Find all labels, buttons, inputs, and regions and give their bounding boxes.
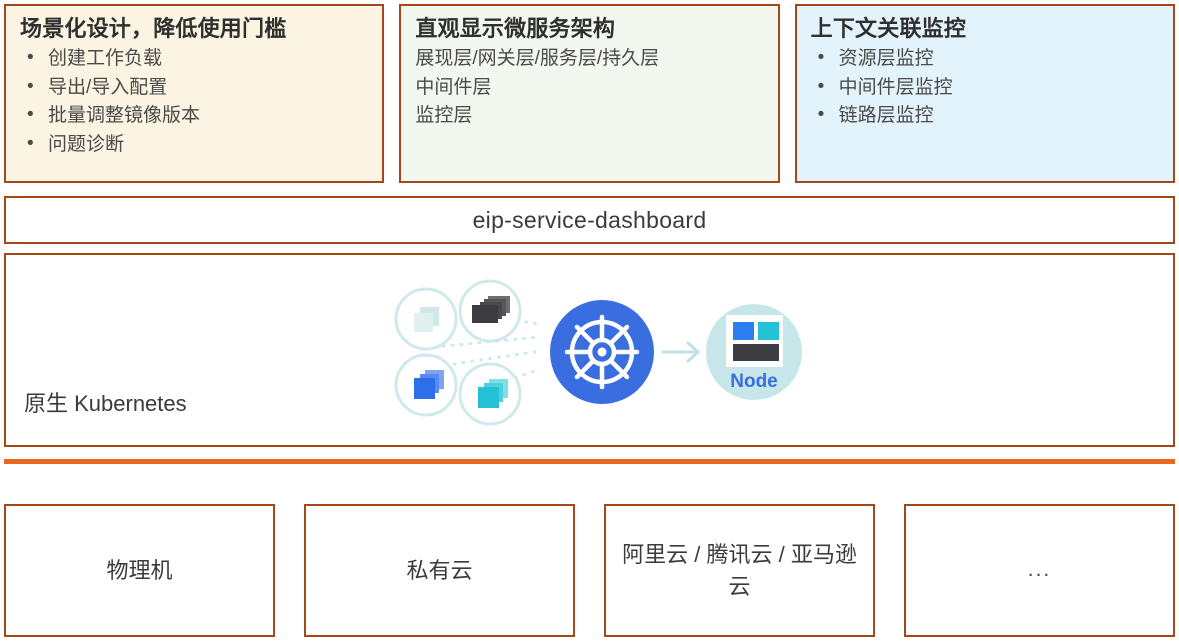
list-item: 展现层/网关层/服务层/持久层 [415, 45, 763, 74]
infra-box-more: ... [904, 504, 1175, 637]
feature-card-scenario-design: 场景化设计，降低使用门槛 创建工作负载 导出/导入配置 批量调整镜像版本 问题诊… [4, 4, 384, 183]
node-icon: Node [706, 304, 802, 400]
feature-card-microservice-architecture: 直观显示微服务架构 展现层/网关层/服务层/持久层 中间件层 监控层 [399, 4, 779, 183]
node-label: Node [730, 371, 778, 392]
list-item: 中间件层监控 [811, 74, 1159, 103]
kubernetes-diagram-svg: Node [372, 269, 822, 435]
list-item: 资源层监控 [811, 45, 1159, 74]
list-item: 中间件层 [415, 74, 763, 103]
list-item: 创建工作负载 [20, 45, 368, 74]
pod-stack-blue-icon [396, 355, 456, 415]
kubernetes-section-label: 原生 Kubernetes [24, 386, 187, 418]
list-item: 导出/导入配置 [20, 74, 368, 103]
feature-cards-row: 场景化设计，降低使用门槛 创建工作负载 导出/导入配置 批量调整镜像版本 问题诊… [4, 4, 1175, 183]
feature-card-title: 上下文关联监控 [811, 14, 1159, 43]
kubernetes-diagram: Node [372, 269, 822, 435]
infra-label: 私有云 [406, 555, 472, 587]
dashboard-bar: eip-service-dashboard [4, 196, 1175, 244]
feature-card-context-monitoring: 上下文关联监控 资源层监控 中间件层监控 链路层监控 [795, 4, 1175, 183]
list-item: 批量调整镜像版本 [20, 102, 368, 131]
infra-box-private-cloud: 私有云 [304, 504, 575, 637]
pod-stack-dark-icon [460, 281, 520, 341]
dashboard-label: eip-service-dashboard [473, 207, 707, 234]
pod-stack-pale-icon [396, 289, 456, 349]
infrastructure-row: 物理机 私有云 阿里云 / 腾讯云 / 亚马逊云 ... [4, 504, 1175, 637]
infra-label: 阿里云 / 腾讯云 / 亚马逊云 [618, 539, 861, 603]
arrow-right-icon [663, 343, 698, 361]
feature-card-title: 场景化设计，降低使用门槛 [20, 14, 368, 43]
infra-label: ... [1028, 555, 1052, 585]
feature-card-title: 直观显示微服务架构 [415, 14, 763, 43]
infra-label: 物理机 [106, 555, 172, 587]
section-divider [4, 459, 1175, 464]
infra-box-physical-machine: 物理机 [4, 504, 275, 637]
feature-card-list: 创建工作负载 导出/导入配置 批量调整镜像版本 问题诊断 [20, 45, 368, 159]
feature-card-list: 资源层监控 中间件层监控 链路层监控 [811, 45, 1159, 131]
feature-card-list: 展现层/网关层/服务层/持久层 中间件层 监控层 [415, 45, 763, 131]
pod-stack-cyan-icon [460, 364, 520, 424]
list-item: 监控层 [415, 102, 763, 131]
list-item: 问题诊断 [20, 131, 368, 160]
kubernetes-helm-icon [550, 300, 654, 404]
list-item: 链路层监控 [811, 102, 1159, 131]
infra-box-public-clouds: 阿里云 / 腾讯云 / 亚马逊云 [604, 504, 875, 637]
kubernetes-section: 原生 Kubernetes [4, 253, 1175, 447]
